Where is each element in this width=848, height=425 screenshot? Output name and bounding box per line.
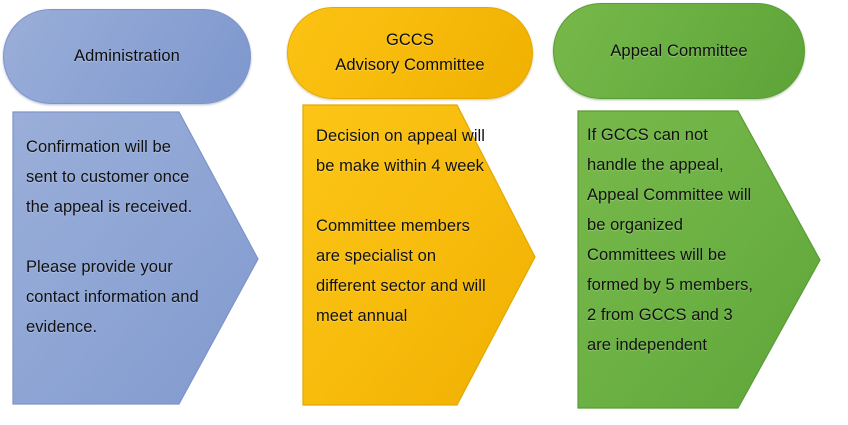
stage-header-administration[interactable]: Administration bbox=[3, 9, 251, 104]
stage-header-label: Administration bbox=[74, 44, 180, 69]
stage-header-appeal-committee[interactable]: Appeal Committee bbox=[553, 3, 805, 99]
stage-header-label: Appeal Committee bbox=[610, 39, 747, 64]
stage-body-gccs-advisory-committee[interactable]: Decision on appeal will be make within 4… bbox=[302, 104, 537, 407]
stage-header-gccs-advisory-committee[interactable]: GCCS Advisory Committee bbox=[287, 7, 533, 99]
stage-body-text: Confirmation will be sent to customer on… bbox=[26, 132, 201, 342]
stage-body-text: Decision on appeal will be make within 4… bbox=[316, 121, 488, 331]
stage-header-label: GCCS Advisory Committee bbox=[335, 28, 484, 78]
stage-body-text: If GCCS can not handle the appeal, Appea… bbox=[587, 120, 757, 360]
process-diagram: Administration Confirmation will be sent… bbox=[0, 0, 848, 425]
stage-body-administration[interactable]: Confirmation will be sent to customer on… bbox=[12, 111, 260, 406]
stage-body-appeal-committee[interactable]: If GCCS can not handle the appeal, Appea… bbox=[577, 110, 822, 410]
